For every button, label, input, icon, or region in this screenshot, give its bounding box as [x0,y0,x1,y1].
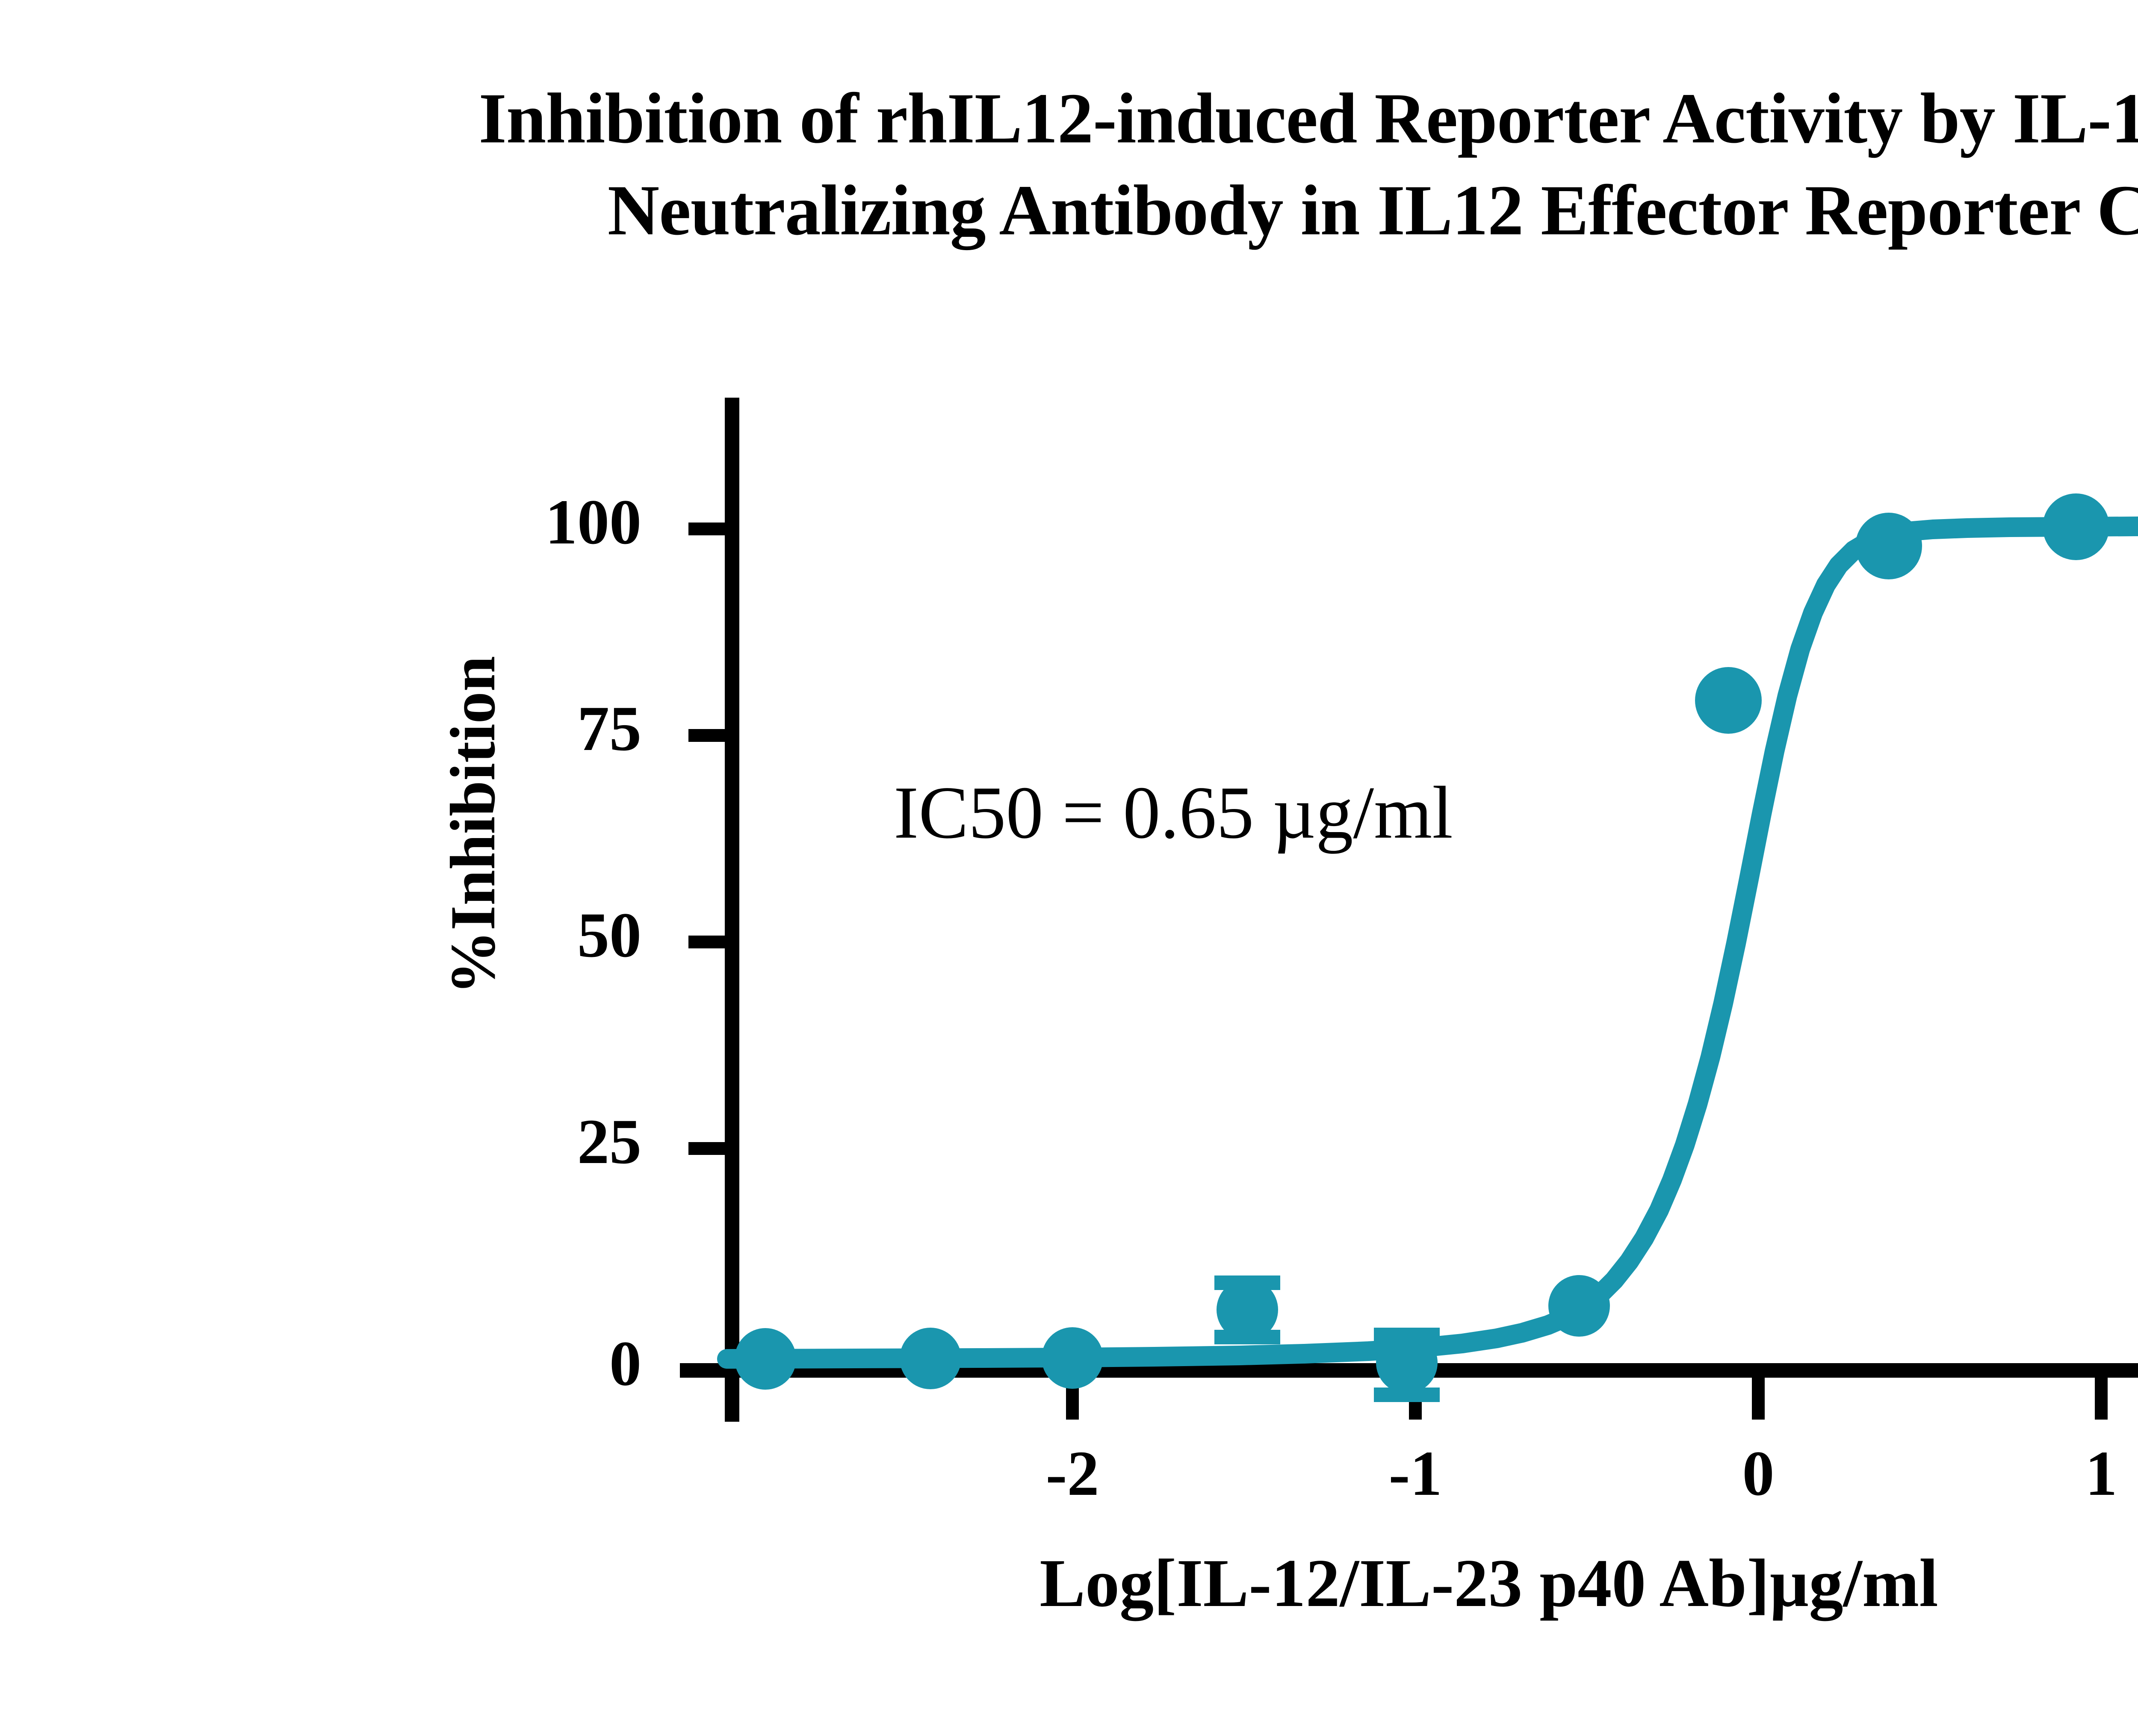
ic50-annotation: IC50 = 0.65 µg/ml [894,770,1453,856]
y-tick-label-25: 25 [359,1105,641,1178]
data-point [900,1328,961,1389]
data-point [2043,493,2109,560]
data-point [735,1328,796,1390]
data-point [1376,1332,1438,1394]
x-tick-label-neg1: -1 [1287,1437,1544,1510]
y-axis-title: %Inhibition [436,569,510,1082]
data-point [1042,1327,1103,1389]
x-tick-label-1: 1 [1973,1437,2138,1510]
y-tick-label-100: 100 [359,485,641,559]
x-tick-marks [1072,1370,2101,1420]
data-point [1548,1275,1610,1337]
data-point [1695,667,1762,734]
x-tick-label-0: 0 [1630,1437,1887,1510]
data-point [1855,513,1922,579]
data-point-markers [735,492,2138,1394]
x-tick-label-neg2: -2 [944,1437,1201,1510]
chart-page: Inhibition of rhIL12-induced Reporter Ac… [0,0,2138,1736]
plot-area: 100 75 50 25 0 -2 -1 0 1 %Inhibition Log… [0,0,2138,1736]
data-point [1217,1279,1278,1340]
y-tick-label-0: 0 [359,1327,641,1400]
fit-curve [727,526,2138,1359]
x-axis-title: Log[IL-12/IL-23 p40 Ab]µg/ml [0,1544,2138,1623]
